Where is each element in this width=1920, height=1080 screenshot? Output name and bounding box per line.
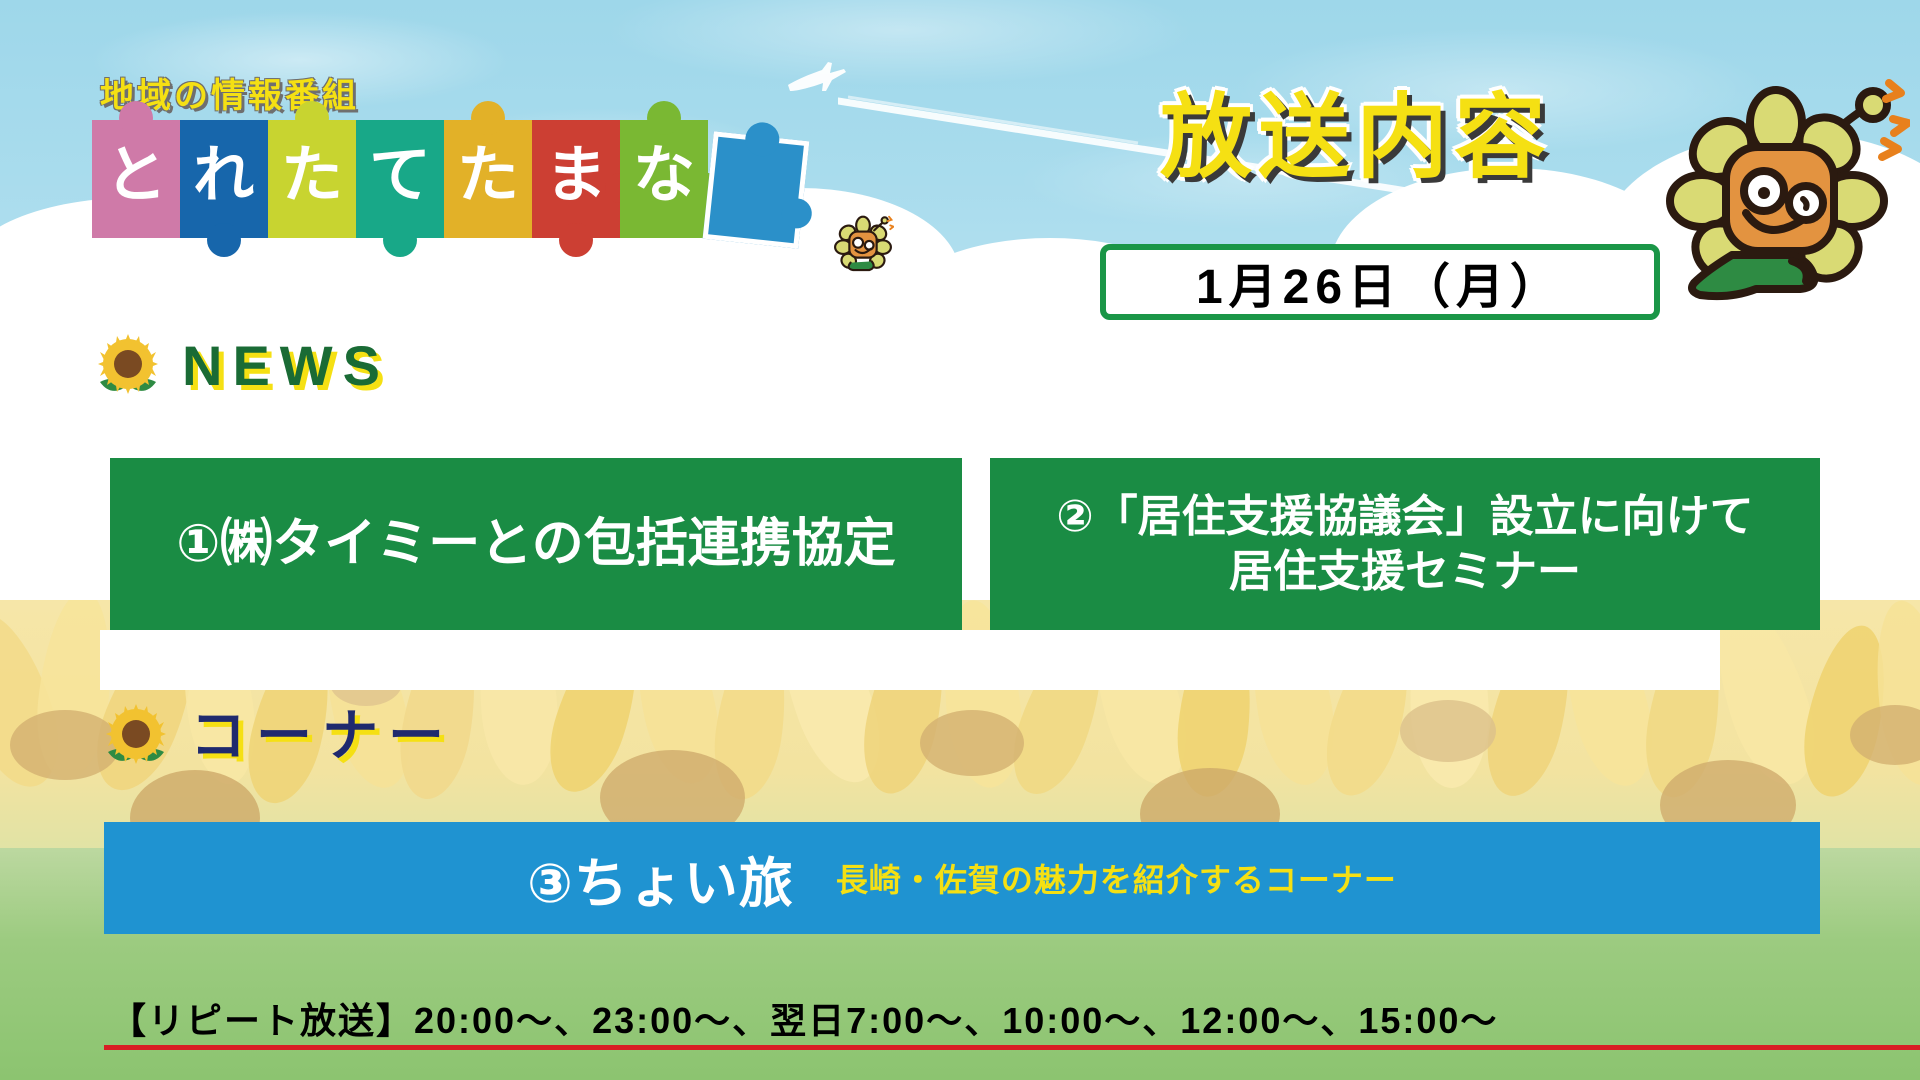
airplane-icon [782,58,852,102]
puzzle-piece: と [92,120,180,238]
mini-sunflower-mascot-icon [832,213,894,275]
white-gap [100,630,1720,690]
broadcast-date-box: 1月26日（月） [1100,244,1660,320]
news-item-box-2[interactable]: ②「居住支援協議会」設立に向けて 居住支援セミナー [990,458,1820,630]
corner-section-heading: コーナー [100,700,454,772]
broadcast-title: 放送内容 [1160,92,1552,184]
puzzle-piece: れ [180,120,268,238]
sunflower-mascot [1660,75,1910,325]
sunflower-icon [92,330,164,402]
puzzle-piece-char: な [633,145,695,207]
broadcast-date: 1月26日（月） [1196,247,1564,317]
puzzle-piece: た [268,120,356,238]
corner-heading-label: コーナー [190,708,454,764]
puzzle-piece: て [356,120,444,238]
news-section-heading: NEWS [92,330,390,402]
news-heading-label: NEWS [182,338,390,394]
puzzle-piece-char: れ [193,145,255,207]
broadcast-schedule-poster: 地域の情報番組 と れ た て た ま な [0,0,1920,1080]
sunflower-icon [100,700,172,772]
corner-item-box[interactable]: ③ちょい旅 長崎・佐賀の魅力を紹介するコーナー [104,822,1820,934]
program-logo-puzzle: と れ た て た ま な [92,120,792,260]
repeat-broadcast-text: 【リピート放送】20:00〜、23:00〜、翌日7:00〜、10:00〜、12:… [110,992,1498,1044]
news-item-1-line1: ①㈱タイミーとの包括連携協定 [176,512,896,577]
puzzle-piece: な [620,120,708,238]
puzzle-piece-char: と [105,145,167,207]
puzzle-piece-char: て [369,145,431,207]
puzzle-piece: た [444,120,532,238]
corner-subtitle: 長崎・佐賀の魅力を紹介するコーナー [836,855,1397,901]
puzzle-piece-char: た [457,145,519,207]
news-item-2-line2: 居住支援セミナー [1056,544,1753,599]
puzzle-piece-char: た [281,145,343,207]
news-item-box-1[interactable]: ①㈱タイミーとの包括連携協定 [110,458,962,630]
puzzle-piece-mascot [703,131,810,248]
puzzle-piece: ま [532,120,620,238]
puzzle-piece-char: ま [545,145,607,207]
red-divider-rule [104,1045,1920,1050]
news-item-2-line1: ②「居住支援協議会」設立に向けて [1056,489,1753,544]
corner-title: ③ちょい旅 [527,839,794,918]
